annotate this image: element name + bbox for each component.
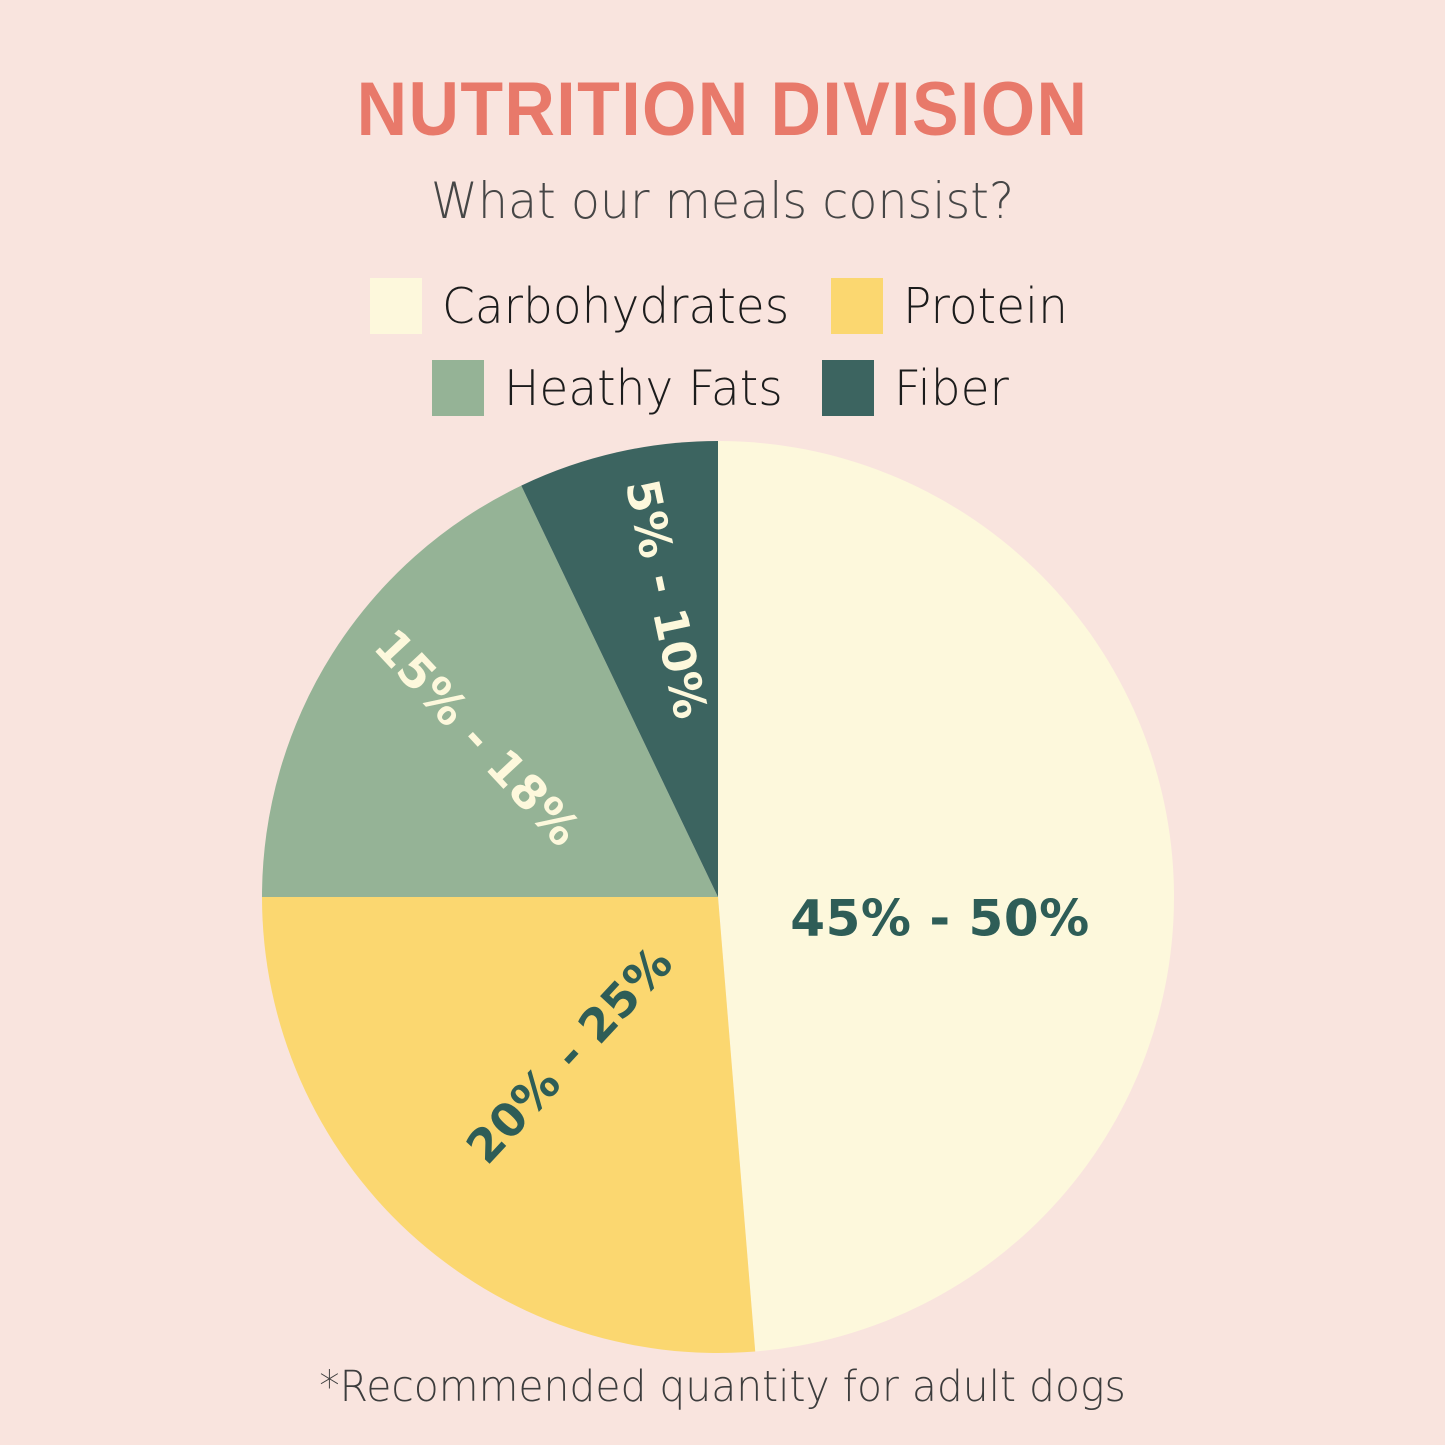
legend-label-carbohydrates: Carbohydrates (442, 282, 789, 331)
page-subtitle: What our meals consist? (36, 148, 1409, 226)
pie-slice-label-heathy-fats: 15% - 18% (364, 618, 592, 857)
legend-row-2: Heathy Fats Fiber (0, 360, 1445, 416)
pie-slice-label-fiber: 5% - 10% (615, 475, 718, 724)
legend-swatch-icon-protein (831, 278, 883, 334)
legend-label-protein: Protein (903, 282, 1068, 331)
header: NUTRITION DIVISION What our meals consis… (0, 72, 1445, 226)
legend-item-protein[interactable]: Protein (831, 278, 1075, 334)
legend-label-heathy-fats: Heathy Fats (504, 364, 783, 413)
pie-labels-group: 45% - 50%20% - 25%15% - 18%5% - 10% (364, 475, 1090, 1174)
pie-slice-heathy-fats[interactable] (262, 486, 718, 897)
page-title: NUTRITION DIVISION (58, 72, 1387, 148)
footnote: *Recommended quantity for adult dogs (36, 1362, 1409, 1412)
legend-swatch-icon-fiber (822, 360, 874, 416)
legend-item-carbohydrates[interactable]: Carbohydrates (370, 278, 804, 334)
chart-legend: Carbohydrates Protein Heathy Fats Fiber (0, 278, 1445, 442)
legend-swatch-icon-heathy-fats (432, 360, 484, 416)
pie-slice-carbohydrates[interactable] (718, 441, 1174, 1351)
pie-slice-protein[interactable] (262, 897, 755, 1353)
pie-slices-group (262, 441, 1174, 1353)
pie-slice-label-carbohydrates: 45% - 50% (790, 890, 1089, 948)
poster-canvas: NUTRITION DIVISION What our meals consis… (0, 0, 1445, 1445)
legend-item-heathy-fats[interactable]: Heathy Fats (432, 360, 794, 416)
legend-label-fiber: Fiber (894, 364, 1009, 413)
pie-slice-label-protein: 20% - 25% (456, 935, 684, 1174)
pie-slice-fiber[interactable] (521, 441, 718, 897)
legend-row-1: Carbohydrates Protein (0, 278, 1445, 334)
legend-item-fiber[interactable]: Fiber (822, 360, 1014, 416)
legend-swatch-icon-carbohydrates (370, 278, 422, 334)
